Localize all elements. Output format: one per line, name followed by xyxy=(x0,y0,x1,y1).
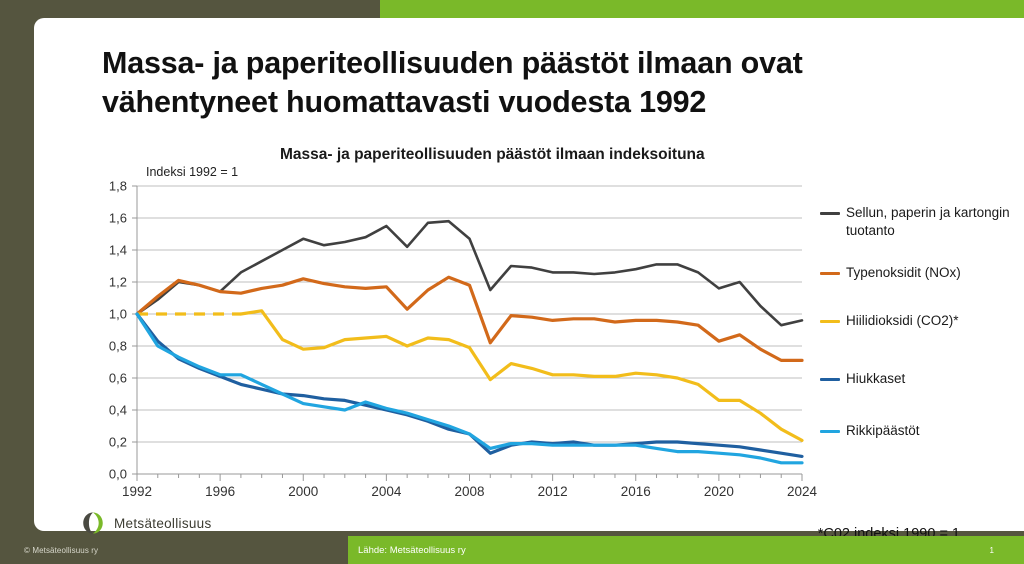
legend-label: Hiukkaset xyxy=(846,370,905,388)
legend-item[interactable]: Hiilidioksidi (CO2)* xyxy=(820,312,959,330)
legend-color-swatch xyxy=(820,212,840,215)
x-axis-tick-label: 2012 xyxy=(528,484,578,499)
footer-copyright: © Metsäteollisuus ry xyxy=(0,536,348,564)
y-axis-tick-label: 0,6 xyxy=(93,371,127,386)
legend-item[interactable]: Hiukkaset xyxy=(820,370,905,388)
metsateollisuus-logo-icon xyxy=(80,510,106,536)
top-green-band xyxy=(380,0,1024,18)
series-line xyxy=(241,311,802,441)
x-axis-tick-label: 2020 xyxy=(694,484,744,499)
legend-item[interactable]: Rikkipäästöt xyxy=(820,422,920,440)
x-axis-tick-label: 1996 xyxy=(195,484,245,499)
legend-label: Sellun, paperin ja kartongin tuotanto xyxy=(846,204,1024,240)
y-axis-tick-label: 0,8 xyxy=(93,339,127,354)
series-line xyxy=(137,221,802,325)
slide-footer: © Metsäteollisuus ry Lähde: Metsäteollis… xyxy=(0,536,1024,564)
y-axis-tick-label: 0,4 xyxy=(93,403,127,418)
x-axis-tick-label: 2000 xyxy=(278,484,328,499)
legend-color-swatch xyxy=(820,378,840,381)
x-axis-tick-label: 2008 xyxy=(445,484,495,499)
legend-color-swatch xyxy=(820,320,840,323)
y-axis-tick-label: 0,0 xyxy=(93,467,127,482)
x-axis-tick-label: 2016 xyxy=(611,484,661,499)
content-card: Massa- ja paperiteollisuuden päästöt ilm… xyxy=(34,18,1024,531)
y-axis-tick-label: 1,0 xyxy=(93,307,127,322)
x-axis-tick-label: 2024 xyxy=(777,484,827,499)
x-axis-tick-label: 1992 xyxy=(112,484,162,499)
footer-source: Lähde: Metsäteollisuus ry xyxy=(348,536,1024,564)
chart-svg xyxy=(34,18,1024,564)
legend-color-swatch xyxy=(820,272,840,275)
legend-item[interactable]: Typenoksidit (NOx) xyxy=(820,264,961,282)
legend-color-swatch xyxy=(820,430,840,433)
footer-page-number: 1 xyxy=(990,536,994,564)
y-axis-tick-label: 1,6 xyxy=(93,211,127,226)
y-axis-tick-label: 0,2 xyxy=(93,435,127,450)
legend-label: Rikkipäästöt xyxy=(846,422,920,440)
brand-logo: Metsäteollisuus xyxy=(80,510,212,536)
chart-plot-area: 0,00,20,40,60,81,01,21,41,61,8 199219962… xyxy=(34,18,1024,564)
legend-item[interactable]: Sellun, paperin ja kartongin tuotanto xyxy=(820,204,1024,240)
logo-label: Metsäteollisuus xyxy=(114,516,212,531)
y-axis-tick-label: 1,4 xyxy=(93,243,127,258)
y-axis-tick-label: 1,8 xyxy=(93,179,127,194)
legend-label: Typenoksidit (NOx) xyxy=(846,264,961,282)
y-axis-tick-label: 1,2 xyxy=(93,275,127,290)
x-axis-tick-label: 2004 xyxy=(361,484,411,499)
legend-label: Hiilidioksidi (CO2)* xyxy=(846,312,959,330)
slide-root: Massa- ja paperiteollisuuden päästöt ilm… xyxy=(0,0,1024,564)
